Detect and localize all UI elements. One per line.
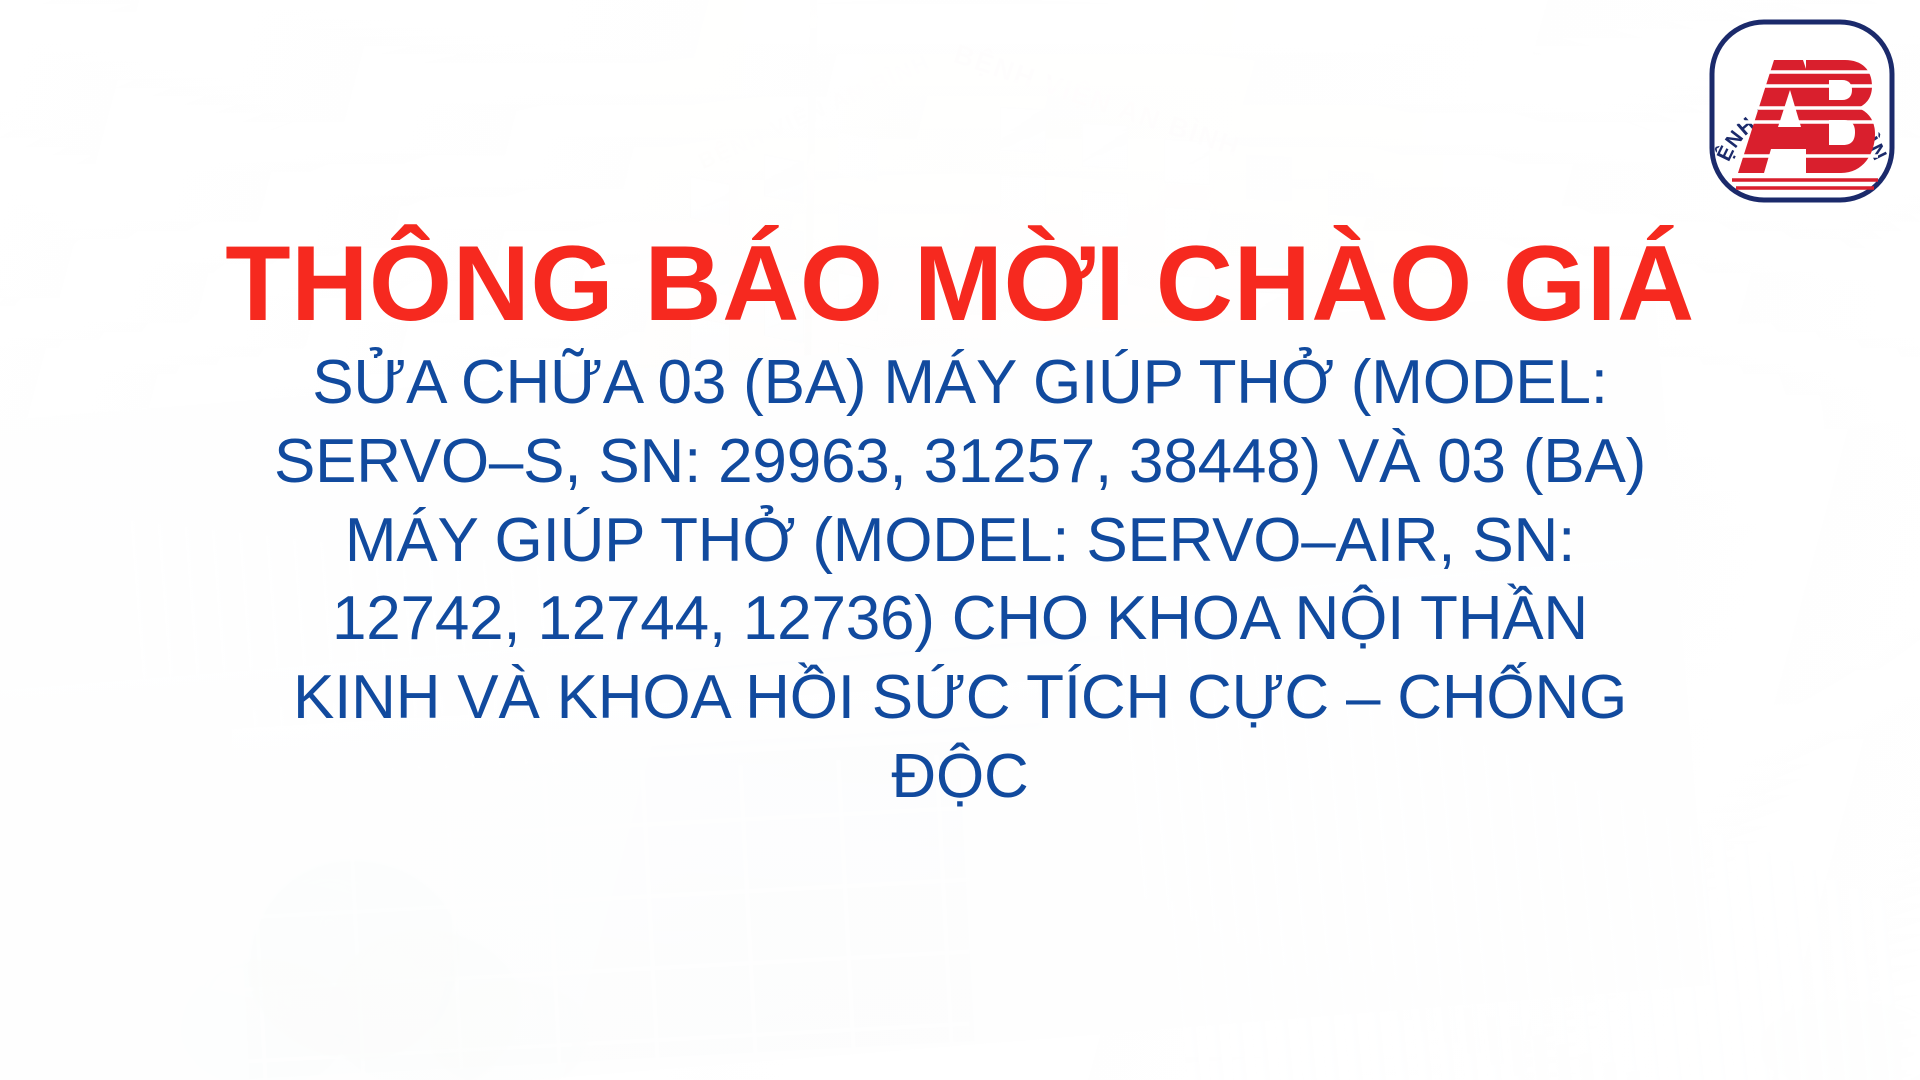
poster-subtitle-line: KINH VÀ KHOA HỒI SỨC TÍCH CỰC – CHỐNG <box>110 659 1810 738</box>
announcement-poster: BỆNH VIỆN AN BÌNH BỆNH VIỆN AN BÌNH <box>0 0 1920 1080</box>
poster-text-content: THÔNG BÁO MỜI CHÀO GIÁ SỬA CHỮA 03 (BA) … <box>0 0 1920 1080</box>
hospital-logo: BỆNH VIỆN AN BÌNH <box>1702 10 1902 210</box>
poster-subtitle-line: 12742, 12744, 12736) CHO KHOA NỘI THẦN <box>110 580 1810 659</box>
poster-subtitle: SỬA CHỮA 03 (BA) MÁY GIÚP THỞ (MODEL:SER… <box>110 344 1810 816</box>
poster-headline: THÔNG BÁO MỜI CHÀO GIÁ <box>225 228 1694 338</box>
poster-subtitle-line: SỬA CHỮA 03 (BA) MÁY GIÚP THỞ (MODEL: <box>110 344 1810 423</box>
poster-subtitle-line: SERVO–S, SN: 29963, 31257, 38448) VÀ 03 … <box>110 423 1810 502</box>
poster-subtitle-line: ĐỘC <box>110 738 1810 817</box>
poster-subtitle-line: MÁY GIÚP THỞ (MODEL: SERVO–AIR, SN: <box>110 502 1810 581</box>
